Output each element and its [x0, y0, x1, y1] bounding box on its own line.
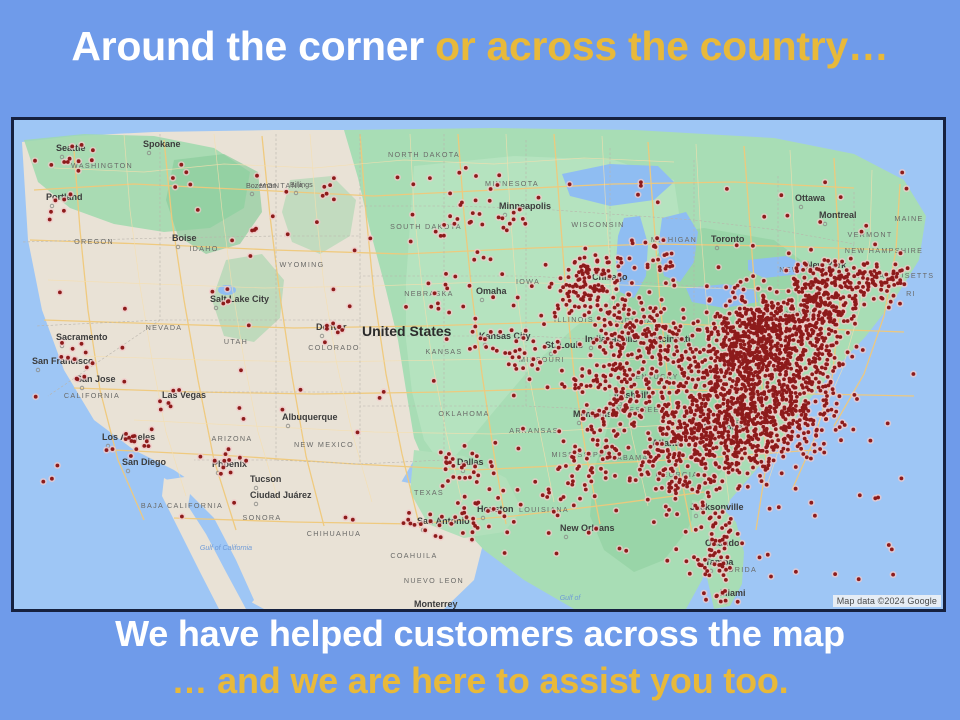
city-label: Ottawa	[795, 193, 826, 203]
city-label: Las Vegas	[162, 390, 206, 400]
state-label: OKLAHOMA	[438, 409, 489, 418]
state-label: ARIZONA	[211, 434, 252, 443]
headline-gold-text: or across the country…	[435, 23, 889, 69]
city-label: Monterrey	[414, 599, 458, 609]
state-label: VERMONT	[847, 230, 892, 239]
state-label: COAHUILA	[390, 551, 437, 560]
state-label: NEVADA	[146, 323, 183, 332]
footer: We have helped customers across the map …	[0, 616, 960, 699]
state-label: ARKANSAS	[509, 426, 559, 435]
state-label: WYOMING	[279, 260, 324, 269]
city-label: Bozeman	[246, 181, 276, 190]
water-label: Gulf of	[560, 595, 582, 602]
city-label: Salt Lake City	[210, 294, 269, 304]
footer-line-1: We have helped customers across the map	[0, 616, 960, 653]
headline-white-text: Around the corner	[71, 23, 435, 69]
city-label: Tucson	[250, 474, 281, 484]
city-label: Albuquerque	[282, 412, 338, 422]
headline: Around the corner or across the country…	[0, 26, 960, 67]
state-label: IDAHO	[189, 244, 218, 253]
state-label: WISCONSIN	[571, 220, 624, 229]
state-label: BAJA CALIFORNIA	[141, 501, 223, 510]
city-label: Montreal	[819, 210, 857, 220]
map-frame[interactable]: .lbl-state { font-family:"Liberation San…	[11, 117, 946, 612]
state-label: UTAH	[224, 337, 248, 346]
state-label: NEW HAMPSHIRE	[845, 246, 923, 255]
city-label: Billings	[290, 180, 313, 189]
map-canvas[interactable]: .lbl-state { font-family:"Liberation San…	[14, 120, 943, 609]
footer-line-2: … and we are here to assist you too.	[0, 663, 960, 700]
state-label: NEW MEXICO	[294, 440, 354, 449]
city-label: Ciudad Juárez	[250, 490, 312, 500]
state-label: ILLINOIS	[554, 315, 594, 324]
state-label: KANSAS	[426, 347, 463, 356]
city-label: Boise	[172, 233, 197, 243]
city-label: Spokane	[143, 139, 181, 149]
state-label: COLORADO	[308, 343, 360, 352]
state-label: CHIHUAHUA	[307, 529, 361, 538]
state-label: NUEVO LEON	[404, 576, 464, 585]
country-label: United States	[362, 323, 452, 339]
state-label: MAINE	[894, 214, 923, 223]
state-label: OREGON	[74, 237, 114, 246]
water-label: Gulf of California	[200, 545, 252, 552]
state-label: LOUISIANA	[519, 505, 569, 514]
state-label: NORTH DAKOTA	[388, 150, 460, 159]
city-label: Toronto	[711, 234, 745, 244]
map-attribution: Map data ©2024 Google	[833, 595, 941, 607]
state-label: TEXAS	[414, 488, 444, 497]
slide-root: Around the corner or across the country……	[0, 0, 960, 720]
state-label: CALIFORNIA	[64, 391, 120, 400]
state-label: SONORA	[243, 513, 282, 522]
city-label: Minneapolis	[499, 201, 551, 211]
state-label: RI	[906, 289, 916, 298]
state-label: IOWA	[516, 277, 540, 286]
map-graphic: .lbl-state { font-family:"Liberation San…	[14, 120, 943, 609]
